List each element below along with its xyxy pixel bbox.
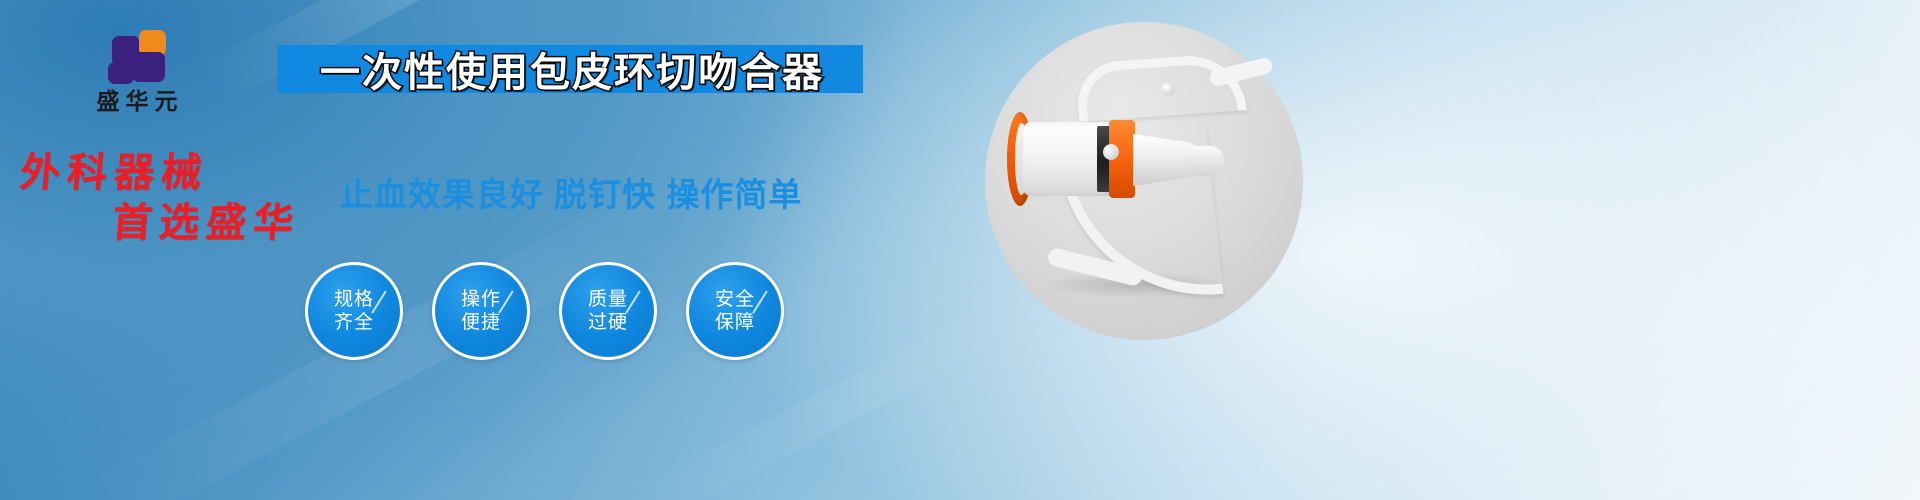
feature-badge-3-line-2: 过硬 xyxy=(588,311,628,334)
page-title: 一次性使用包皮环切吻合器 xyxy=(292,41,852,97)
feature-badge-2-line-2: 便捷 xyxy=(461,311,501,334)
feature-badge-1-line-2: 齐全 xyxy=(334,311,374,334)
feature-badge-4-line-1: 安全 xyxy=(715,288,755,311)
stapler-nose-tip xyxy=(1190,146,1224,176)
calligraphy-slogan: 外科器械 首选盛华 xyxy=(20,152,350,244)
brand-name: 盛华元 xyxy=(62,90,212,113)
stapler-pivot-upper xyxy=(1161,82,1175,96)
product-image xyxy=(985,22,1303,340)
calligraphy-line-2: 首选盛华 xyxy=(110,202,352,244)
feature-badge-3[interactable]: 质量 过硬 xyxy=(559,262,657,360)
stapler-pivot xyxy=(1103,144,1119,160)
feature-badge-2-line-1: 操作 xyxy=(461,288,501,311)
feature-badge-4[interactable]: 安全 保障 xyxy=(686,262,784,360)
feature-badge-4-line-2: 保障 xyxy=(715,311,755,334)
feature-badges: 规格 齐全 操作 便捷 质量 过硬 安全 保障 xyxy=(305,262,784,360)
stacked-squares-logo-icon xyxy=(106,28,168,84)
feature-badge-2[interactable]: 操作 便捷 xyxy=(432,262,530,360)
brand-logo[interactable]: 盛华元 xyxy=(62,28,212,113)
calligraphy-line-1: 外科器械 xyxy=(18,152,352,194)
subtitle: 止血效果良好 脱钉快 操作简单 xyxy=(340,168,802,216)
feature-badge-3-line-1: 质量 xyxy=(588,288,628,311)
feature-badge-1[interactable]: 规格 齐全 xyxy=(305,262,403,360)
feature-badge-1-line-1: 规格 xyxy=(334,288,374,311)
promo-banner: 盛华元 外科器械 首选盛华 一次性使用包皮环切吻合器 止血效果良好 脱钉快 操作… xyxy=(0,0,1920,500)
